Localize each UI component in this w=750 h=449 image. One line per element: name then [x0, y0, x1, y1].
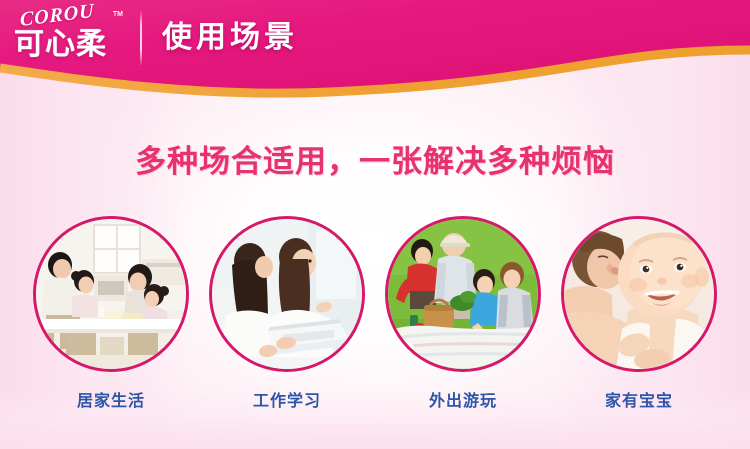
scene-card-work-study[interactable]: 工作学习: [209, 216, 365, 421]
scene-card-label: 外出游玩: [429, 392, 497, 412]
header-content: COROU TM 可心柔 使用场景: [0, 0, 750, 76]
header-title: 使用场景: [162, 21, 298, 55]
scene-photo-circle[interactable]: [561, 216, 717, 372]
scene-photo-circle[interactable]: [209, 216, 365, 372]
two-women-laptop-image: [212, 219, 362, 369]
scene-card-baby[interactable]: 家有宝宝: [561, 216, 717, 421]
scene-card-label: 工作学习: [253, 392, 321, 412]
scene-photo-circle[interactable]: [385, 216, 541, 372]
logo-script-text: COROU: [20, 0, 116, 30]
header-divider: [140, 11, 142, 65]
mother-kissing-baby-image: [564, 219, 714, 369]
scene-card-label: 居家生活: [77, 392, 145, 412]
promo-banner-page: COROU TM 可心柔 使用场景 多种场合适用，一张解决多种烦恼: [0, 0, 750, 449]
scene-card-row: 居家生活: [33, 216, 717, 421]
family-dining-kitchen-image: [36, 219, 186, 369]
logo-chinese-name: 可心柔: [14, 28, 122, 62]
page-headline: 多种场合适用，一张解决多种烦恼: [0, 143, 750, 181]
scene-card-outdoor[interactable]: 外出游玩: [385, 216, 541, 421]
brand-logo: COROU TM 可心柔: [14, 8, 122, 68]
scene-photo-circle[interactable]: [33, 216, 189, 372]
family-picnic-image: [388, 219, 538, 369]
trademark-icon: TM: [113, 11, 123, 18]
header-banner: COROU TM 可心柔 使用场景: [0, 0, 750, 105]
scene-card-home-life[interactable]: 居家生活: [33, 216, 189, 421]
scene-card-label: 家有宝宝: [605, 392, 673, 412]
